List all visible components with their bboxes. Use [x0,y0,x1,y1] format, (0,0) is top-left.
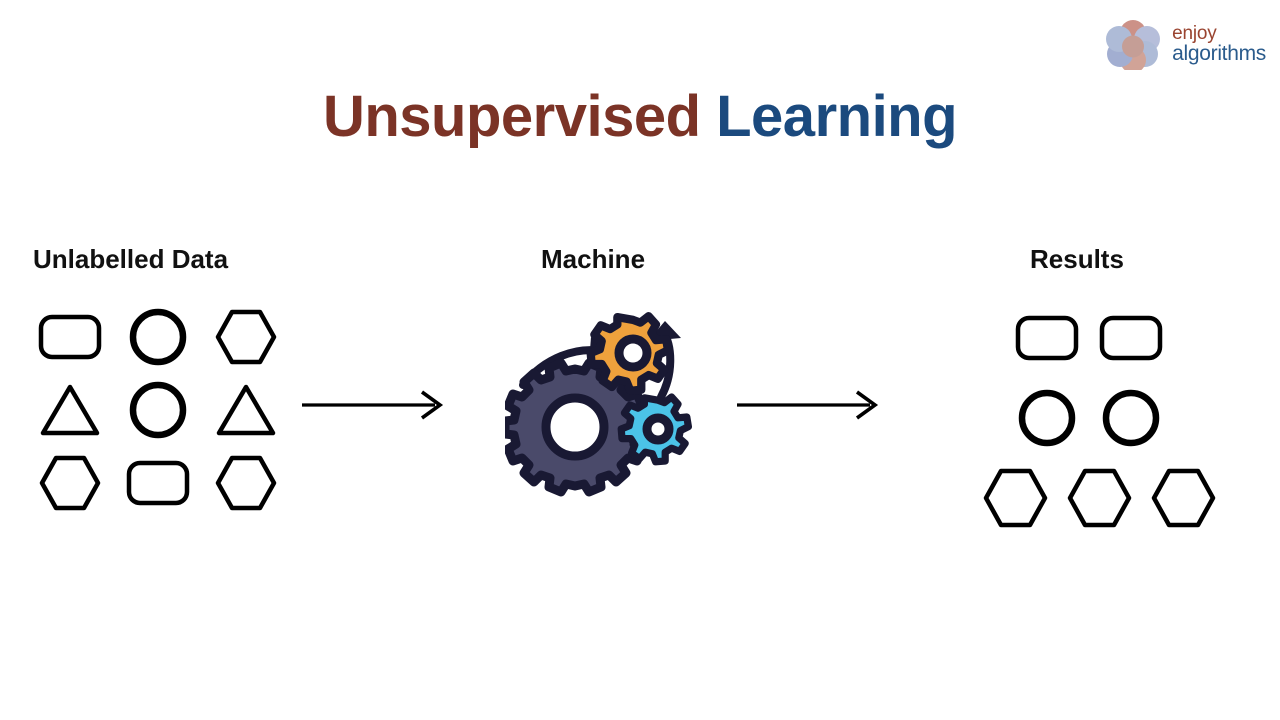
shape-row [30,446,286,519]
shape-hexagon [206,448,286,518]
shape-row [30,373,286,446]
logo-word-algorithms: algorithms [1172,43,1266,64]
title-part-unsupervised: Unsupervised [323,84,716,149]
shape-circle [1007,383,1087,453]
shape-rounded-rect [118,448,198,518]
page-title: Unsupervised Learning [0,83,1280,150]
heading-unlabelled-data: Unlabelled Data [33,244,228,275]
brand-wordmark: enjoy algorithms [1172,24,1266,65]
shape-triangle [30,375,110,445]
shape-hexagon [206,302,286,372]
heading-machine: Machine [541,244,645,275]
shape-row [975,458,1223,538]
arrow-input-to-machine [300,388,445,427]
title-part-learning: Learning [716,84,957,149]
shape-triangle [206,375,286,445]
results-shape-grid [975,298,1223,538]
orange-gear-icon [591,316,668,391]
shape-hexagon [1059,463,1139,533]
shape-hexagon [1143,463,1223,533]
shape-row [975,298,1223,378]
shape-hexagon [975,463,1055,533]
shape-rounded-rect [30,302,110,372]
heading-results: Results [1030,244,1124,275]
cyan-gear-icon [621,397,688,462]
unlabelled-data-shape-grid [30,300,286,519]
logo-flower-icon [1102,18,1164,70]
arrow-machine-to-output [735,388,880,427]
shape-row [975,378,1223,458]
gears-icon [505,305,705,510]
shape-rounded-rect [1091,303,1171,373]
logo-word-enjoy: enjoy [1172,24,1266,43]
shape-hexagon [30,448,110,518]
shape-circle [118,375,198,445]
shape-rounded-rect [1007,303,1087,373]
shape-circle [118,302,198,372]
shape-circle [1091,383,1171,453]
brand-logo[interactable]: enjoy algorithms [1102,18,1266,70]
shape-row [30,300,286,373]
